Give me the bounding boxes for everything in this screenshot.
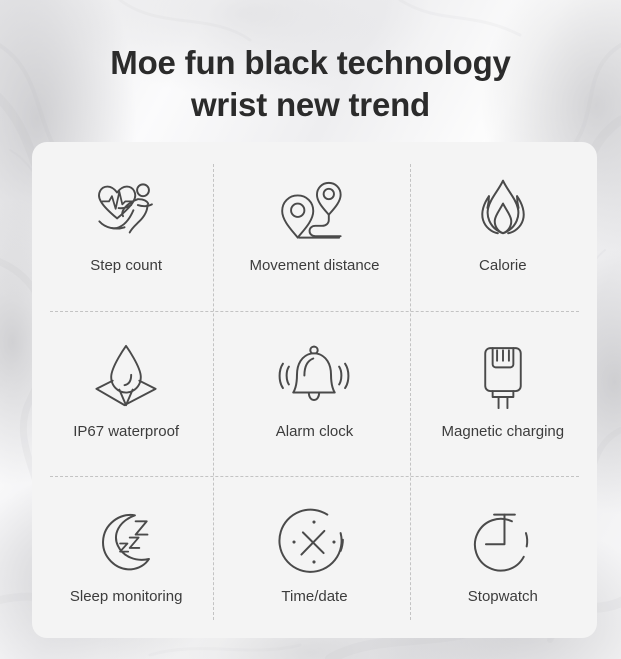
feature-grid: Step count Movement distance <box>32 142 597 638</box>
feature-label: Stopwatch <box>468 589 538 606</box>
feature-cell-calorie[interactable]: Calorie <box>409 142 597 307</box>
feature-cell-alarm-clock[interactable]: Alarm clock <box>220 307 408 472</box>
heartbeat-runner-icon <box>89 174 163 248</box>
flame-icon <box>466 174 540 248</box>
feature-label: Alarm clock <box>276 424 354 441</box>
vertical-divider-1 <box>213 164 214 620</box>
map-pin-route-icon <box>277 174 351 248</box>
horizontal-divider-1 <box>50 311 579 312</box>
ringing-bell-icon <box>277 340 351 414</box>
feature-cell-magnetic-charging[interactable]: Magnetic charging <box>409 307 597 472</box>
feature-card: Step count Movement distance <box>32 142 597 638</box>
feature-label: Time/date <box>281 589 347 606</box>
feature-cell-sleep-monitoring[interactable]: Sleep monitoring <box>32 473 220 638</box>
horizontal-divider-2 <box>50 476 579 477</box>
feature-cell-ip67-waterproof[interactable]: IP67 waterproof <box>32 307 220 472</box>
feature-label: Magnetic charging <box>442 424 565 441</box>
crescent-moon-zzz-icon <box>89 505 163 579</box>
page-title: Moe fun black technology wrist new trend <box>0 42 621 126</box>
feature-label: Step count <box>90 258 162 275</box>
feature-label: Calorie <box>479 258 527 275</box>
vertical-divider-2 <box>410 164 411 620</box>
clock-face-icon <box>277 505 351 579</box>
feature-cell-movement-distance[interactable]: Movement distance <box>220 142 408 307</box>
water-droplet-icon <box>89 340 163 414</box>
feature-cell-time-date[interactable]: Time/date <box>220 473 408 638</box>
feature-cell-stopwatch[interactable]: Stopwatch <box>409 473 597 638</box>
feature-label: IP67 waterproof <box>73 424 179 441</box>
feature-cell-step-count[interactable]: Step count <box>32 142 220 307</box>
charging-connector-icon <box>466 340 540 414</box>
feature-label: Movement distance <box>249 258 379 275</box>
feature-label: Sleep monitoring <box>70 589 183 606</box>
stopwatch-icon <box>466 505 540 579</box>
